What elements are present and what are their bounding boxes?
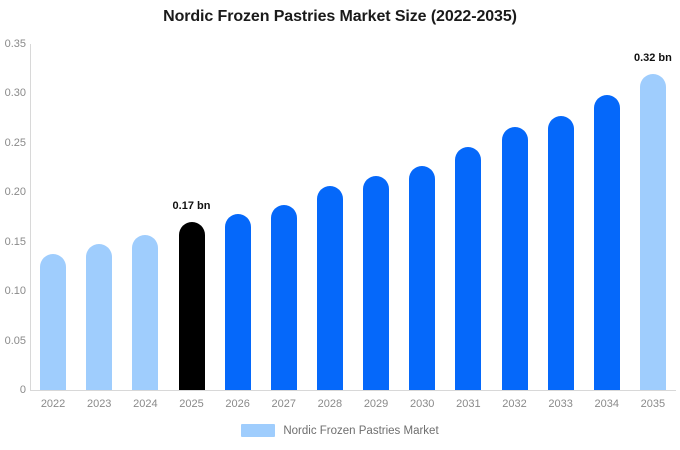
x-axis-tick-label: 2027: [259, 398, 309, 410]
bar-2029[interactable]: [363, 176, 389, 390]
x-axis-line: [30, 390, 676, 391]
legend-swatch-nordic-frozen-pastries-market: [241, 424, 275, 437]
bar-chart: Nordic Frozen Pastries Market Size (2022…: [0, 0, 680, 450]
x-axis-tick-label: 2023: [74, 398, 124, 410]
bar-2035[interactable]: [640, 74, 666, 390]
bar-value-label-2025: 0.17 bn: [152, 200, 232, 212]
y-axis-tick-label: 0.25: [0, 137, 26, 149]
y-axis-tick-label: 0.20: [0, 186, 26, 198]
bar-2025[interactable]: [179, 222, 205, 390]
bar-2031[interactable]: [455, 147, 481, 390]
x-axis-tick-label: 2029: [351, 398, 401, 410]
bar-2026[interactable]: [225, 214, 251, 390]
x-axis-tick-label: 2032: [490, 398, 540, 410]
y-axis-tick-label: 0.30: [0, 87, 26, 99]
x-axis-tick-label: 2025: [167, 398, 217, 410]
bar-2024[interactable]: [132, 235, 158, 390]
x-axis-tick-label: 2031: [443, 398, 493, 410]
legend-label-nordic-frozen-pastries-market: Nordic Frozen Pastries Market: [283, 425, 438, 437]
bar-2032[interactable]: [502, 127, 528, 390]
x-axis-tick-label: 2026: [213, 398, 263, 410]
y-axis-tick-label: 0.05: [0, 335, 26, 347]
bar-2034[interactable]: [594, 95, 620, 390]
chart-title: Nordic Frozen Pastries Market Size (2022…: [0, 8, 680, 26]
x-axis-tick-label: 2024: [120, 398, 170, 410]
x-axis-tick-label: 2035: [628, 398, 678, 410]
bar-2030[interactable]: [409, 166, 435, 390]
y-axis-tick-label: 0.15: [0, 236, 26, 248]
y-axis-tick-label: 0.35: [0, 38, 26, 50]
bar-2033[interactable]: [548, 116, 574, 390]
bar-value-label-2035: 0.32 bn: [613, 52, 680, 64]
y-axis-tick-label: 0: [0, 384, 26, 396]
x-axis-tick-label: 2030: [397, 398, 447, 410]
bar-2022[interactable]: [40, 254, 66, 390]
plot-area: [30, 44, 676, 390]
bar-2027[interactable]: [271, 205, 297, 390]
x-axis-tick-label: 2028: [305, 398, 355, 410]
y-axis-tick-labels: 00.050.100.150.200.250.300.35: [0, 0, 26, 450]
chart-legend: Nordic Frozen Pastries Market: [0, 424, 680, 437]
bar-2028[interactable]: [317, 186, 343, 390]
y-axis-tick-label: 0.10: [0, 285, 26, 297]
x-axis-tick-label: 2022: [28, 398, 78, 410]
bar-2023[interactable]: [86, 244, 112, 390]
x-axis-tick-label: 2033: [536, 398, 586, 410]
x-axis-tick-label: 2034: [582, 398, 632, 410]
